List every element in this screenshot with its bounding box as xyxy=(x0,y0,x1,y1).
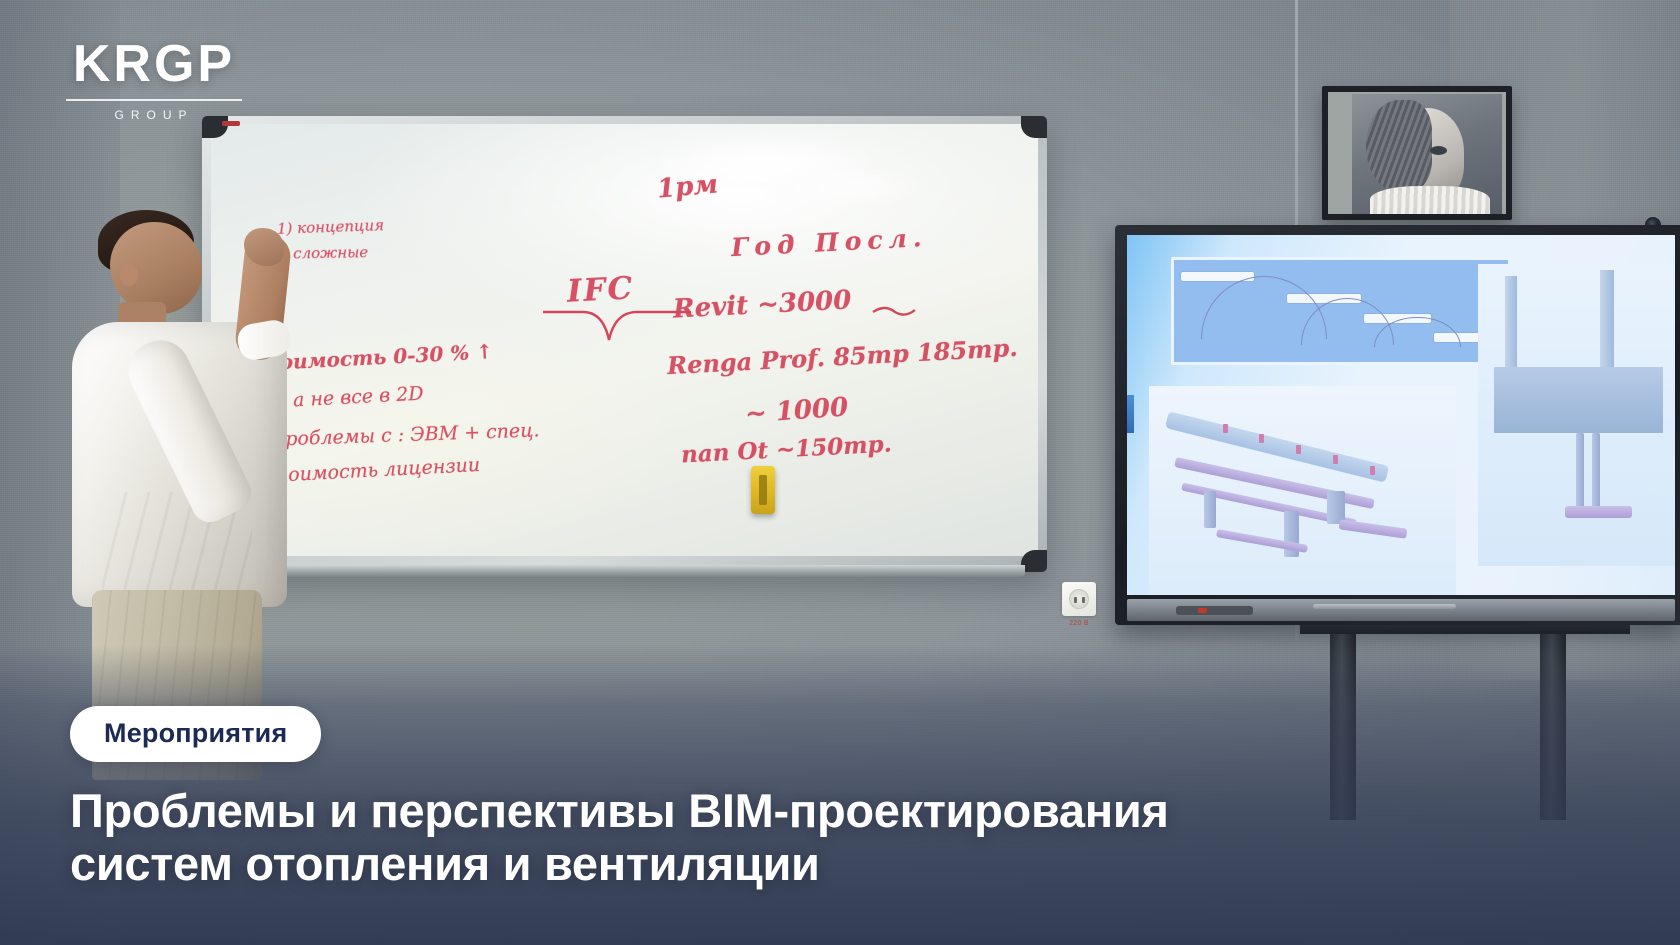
whiteboard-note-right-2: Год Посл. xyxy=(730,223,928,262)
whiteboard-note-right-1: 1рм xyxy=(656,169,719,204)
interactive-display[interactable] xyxy=(1115,225,1680,625)
model-slab xyxy=(1494,367,1664,434)
duct-tick xyxy=(1370,466,1375,475)
duct-branch-3 xyxy=(1339,519,1407,539)
whiteboard-brace-mark xyxy=(541,306,701,348)
whiteboard-note-right-6: ~ 1000 xyxy=(744,392,849,429)
duct-tick xyxy=(1296,445,1301,454)
wall-picture-frame xyxy=(1322,86,1512,220)
headline-line-2: систем отопления и вентиляции xyxy=(70,837,1570,891)
display-screen[interactable] xyxy=(1127,235,1675,595)
display-control-buttons[interactable] xyxy=(1176,606,1253,615)
whiteboard-dash-mark xyxy=(871,302,919,318)
portrait-collar xyxy=(1370,186,1490,214)
portrait-image xyxy=(1352,94,1502,214)
duct-tick xyxy=(1223,424,1228,433)
page-title: Проблемы и перспективы BIM-проектировани… xyxy=(70,784,1570,891)
display-side-toolbar-tab[interactable] xyxy=(1127,395,1134,433)
category-badge[interactable]: Мероприятия xyxy=(70,706,321,762)
whiteboard-glare-secondary xyxy=(757,167,939,206)
event-hero-banner: KRGP GROUP 1) концепция 2) сложные - сто… xyxy=(0,0,1680,945)
socket-voltage-label: 220 В xyxy=(1062,620,1096,627)
presenter-ear xyxy=(120,264,138,286)
picture-mat xyxy=(1328,92,1506,214)
whiteboard-note-right-5: Renga Prof. 85тр 185тр. xyxy=(666,333,1018,380)
duct-tick xyxy=(1259,434,1264,443)
socket-pin-left xyxy=(1074,597,1077,603)
logo-wordmark: KRGP xyxy=(64,38,244,90)
logo-divider xyxy=(66,99,242,101)
socket-pin-right xyxy=(1082,597,1085,603)
presenter-person xyxy=(62,210,392,710)
portrait-wig xyxy=(1366,100,1432,192)
portrait-eye xyxy=(1430,146,1447,155)
display-bezel xyxy=(1115,225,1680,625)
slide-model-right xyxy=(1478,264,1675,566)
headline-line-1: Проблемы и перспективы BIM-проектировани… xyxy=(70,784,1169,837)
whiteboard-marker-clip xyxy=(222,121,240,126)
riser-pipe-3 xyxy=(1204,491,1216,529)
model-pipe-3 xyxy=(1565,506,1632,518)
whiteboard-note-right-3: IFC xyxy=(566,270,635,309)
krgp-logo: KRGP GROUP xyxy=(64,38,244,122)
caption-block: Мероприятия Проблемы и перспективы BIM-п… xyxy=(70,706,1590,891)
duct-tick xyxy=(1333,455,1338,464)
socket-receptacle xyxy=(1069,589,1089,609)
whiteboard-eraser[interactable] xyxy=(751,466,775,514)
slide-model-left xyxy=(1149,386,1456,595)
display-speaker-slot xyxy=(1313,604,1455,609)
slide-diagram-panel xyxy=(1171,257,1511,365)
display-lower-panel xyxy=(1127,599,1675,621)
power-socket xyxy=(1062,582,1096,616)
display-power-led xyxy=(1198,608,1207,613)
model-pipe-1 xyxy=(1576,433,1584,512)
whiteboard-note-right-7: nan Ot ~150тр. xyxy=(680,431,892,469)
